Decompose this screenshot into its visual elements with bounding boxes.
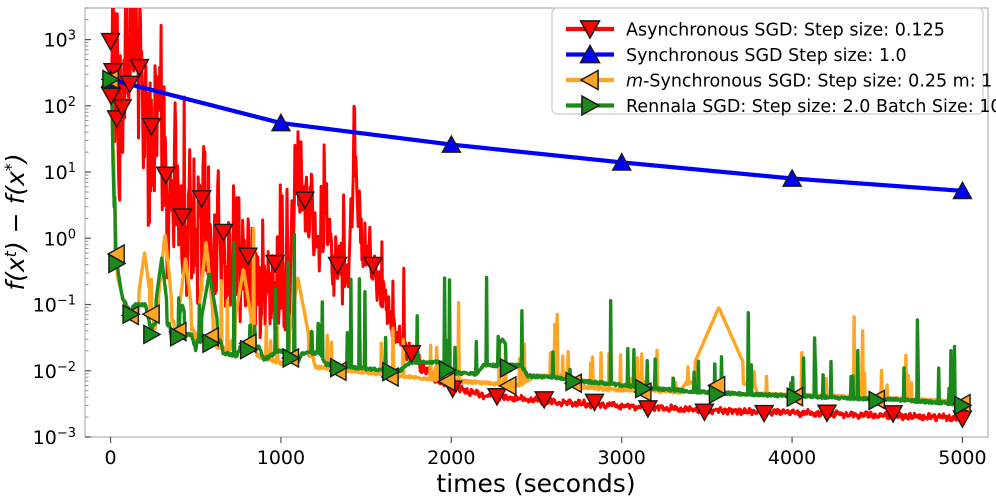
x-tick-label: 4000 xyxy=(768,447,816,469)
y-tick-label: 103 xyxy=(44,29,76,52)
x-tick-label: 5000 xyxy=(938,447,986,469)
y-tick-label: 10−3 xyxy=(33,426,76,449)
x-axis-ticks: 010002000300040005000 xyxy=(105,437,987,469)
legend-label[interactable]: Asynchronous SGD: Step size: 0.125 xyxy=(626,21,945,41)
x-tick-label: 3000 xyxy=(598,447,646,469)
x-tick-label: 0 xyxy=(105,447,117,469)
y-tick-label: 10−1 xyxy=(33,294,76,317)
legend-label[interactable]: Synchronous SGD Step size: 1.0 xyxy=(626,46,907,66)
y-tick-label: 102 xyxy=(44,95,76,118)
legend-label[interactable]: m-Synchronous SGD: Step size: 0.25 m: 1 xyxy=(626,72,992,92)
chart-svg: 10310210110010−110−210−3 010002000300040… xyxy=(0,0,996,497)
legend[interactable]: Asynchronous SGD: Step size: 0.125Synchr… xyxy=(552,8,996,117)
legend-label[interactable]: Rennala SGD: Step size: 2.0 Batch Size: … xyxy=(626,97,996,117)
y-axis-ticks: 10310210110010−110−210−3 xyxy=(33,8,91,449)
y-tick-label: 100 xyxy=(44,227,76,250)
y-tick-label: 101 xyxy=(44,161,76,184)
x-tick-label: 2000 xyxy=(427,447,475,469)
chart-figure: 10310210110010−110−210−3 010002000300040… xyxy=(0,0,996,497)
y-tick-label: 10−2 xyxy=(33,360,76,383)
x-tick-label: 1000 xyxy=(257,447,305,469)
x-axis-label: times (seconds) xyxy=(436,469,635,497)
y-axis-label: f(xt) − f(x*) xyxy=(1,153,30,290)
